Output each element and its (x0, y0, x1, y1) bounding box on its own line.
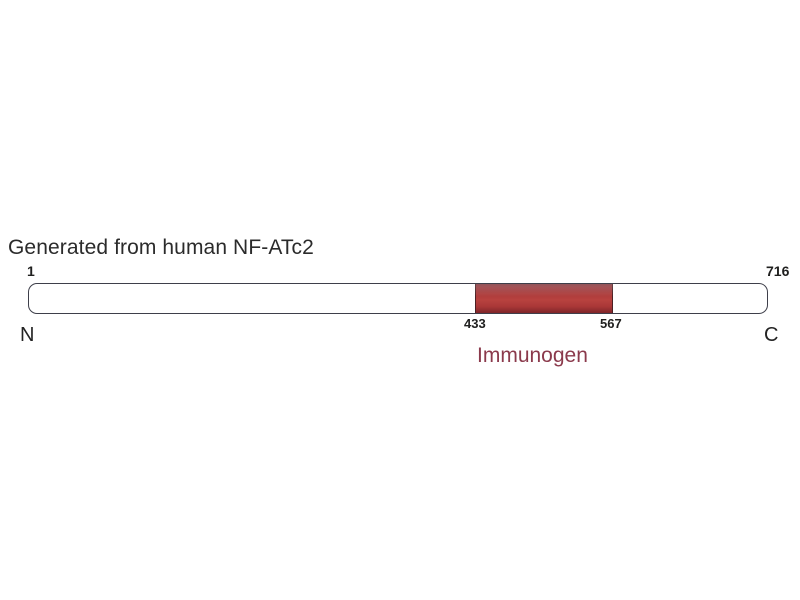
protein-end-position-label: 716 (766, 264, 789, 278)
c-terminus-label: C (764, 324, 778, 346)
page-title: Generated from human NF-ATc2 (8, 236, 314, 260)
n-terminus-label: N (20, 324, 34, 346)
protein-length-bar (28, 283, 768, 314)
immunogen-end-position-label: 567 (600, 317, 622, 331)
immunogen-caption: Immunogen (477, 344, 588, 368)
immunogen-start-position-label: 433 (464, 317, 486, 331)
protein-domain-figure: Generated from human NF-ATc2 1 716 433 5… (0, 0, 800, 600)
immunogen-region (475, 284, 613, 313)
protein-start-position-label: 1 (27, 264, 35, 278)
